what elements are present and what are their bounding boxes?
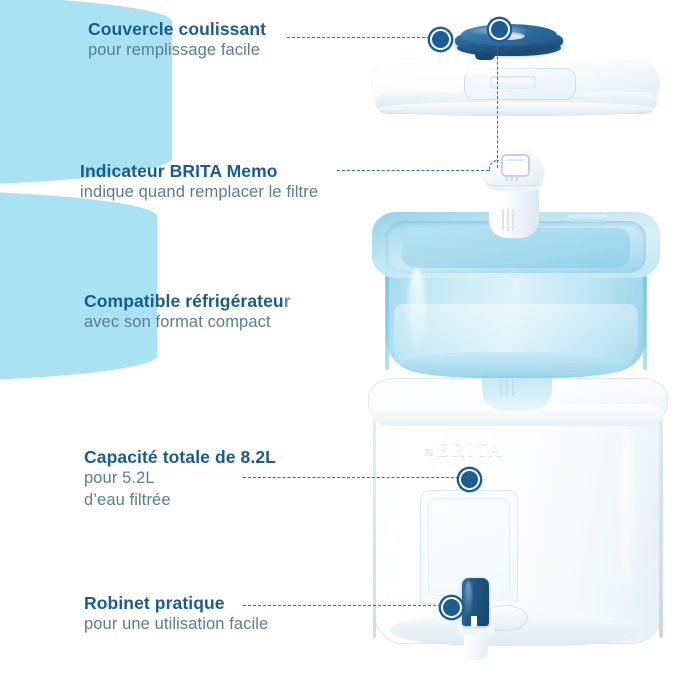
callout-title-memo: Indicateur BRITA Memo xyxy=(80,160,318,182)
callout-dot-capacity[interactable] xyxy=(459,469,480,490)
callout-label-capacity: Capacité totale de 8.2L pour 5.2L d’eau … xyxy=(84,446,276,512)
brita-logo: ≋BRITA xyxy=(424,440,534,462)
callout-label-memo: Indicateur BRITA Memo indique quand remp… xyxy=(80,160,318,204)
callout-subtitle-capacity-line1: pour 5.2L xyxy=(84,468,276,490)
leader-line-lid xyxy=(287,37,435,38)
callout-subtitle-memo: indique quand remplacer le filtre xyxy=(80,182,318,204)
callout-title-fridge-tail: r xyxy=(284,291,291,311)
callout-title-fridge-main: Compatible réfrigérateu xyxy=(84,291,284,311)
infographic-canvas: ≋BRITA Couvercle coulissant pour remplis… xyxy=(0,0,700,700)
callout-title-tap: Robinet pratique xyxy=(84,592,268,614)
callout-title-fridge: Compatible réfrigérateur xyxy=(84,290,291,312)
leader-line-lid-vertical xyxy=(497,42,498,168)
callout-label-tap: Robinet pratique pour une utilisation fa… xyxy=(84,592,268,636)
callout-title-capacity: Capacité totale de 8.2L xyxy=(84,446,276,468)
callout-dot-lid[interactable] xyxy=(430,29,451,50)
callout-dot-tap[interactable] xyxy=(441,597,462,618)
leader-line-tap xyxy=(243,605,441,606)
callout-dot-sliding-lid-anchor[interactable] xyxy=(489,19,510,40)
callout-subtitle-capacity-line2: d’eau filtrée xyxy=(84,490,276,512)
callout-subtitle-fridge: avec son format compact xyxy=(84,312,291,334)
callout-label-fridge: Compatible réfrigérateur avec son format… xyxy=(84,290,291,334)
leader-line-memo xyxy=(337,170,489,171)
callout-subtitle-lid: pour remplissage facile xyxy=(88,40,266,62)
brita-memo-indicator xyxy=(501,154,530,177)
callout-title-lid: Couvercle coulissant xyxy=(88,18,266,40)
callout-subtitle-tap: pour une utilisation facile xyxy=(84,614,268,636)
product-part-tap xyxy=(452,578,540,660)
brita-logo-mark: ≋ xyxy=(424,444,435,459)
brita-logo-text: BRITA xyxy=(437,440,504,461)
product-part-white-lid xyxy=(372,60,660,122)
callout-label-lid: Couvercle coulissant pour remplissage fa… xyxy=(88,18,266,62)
